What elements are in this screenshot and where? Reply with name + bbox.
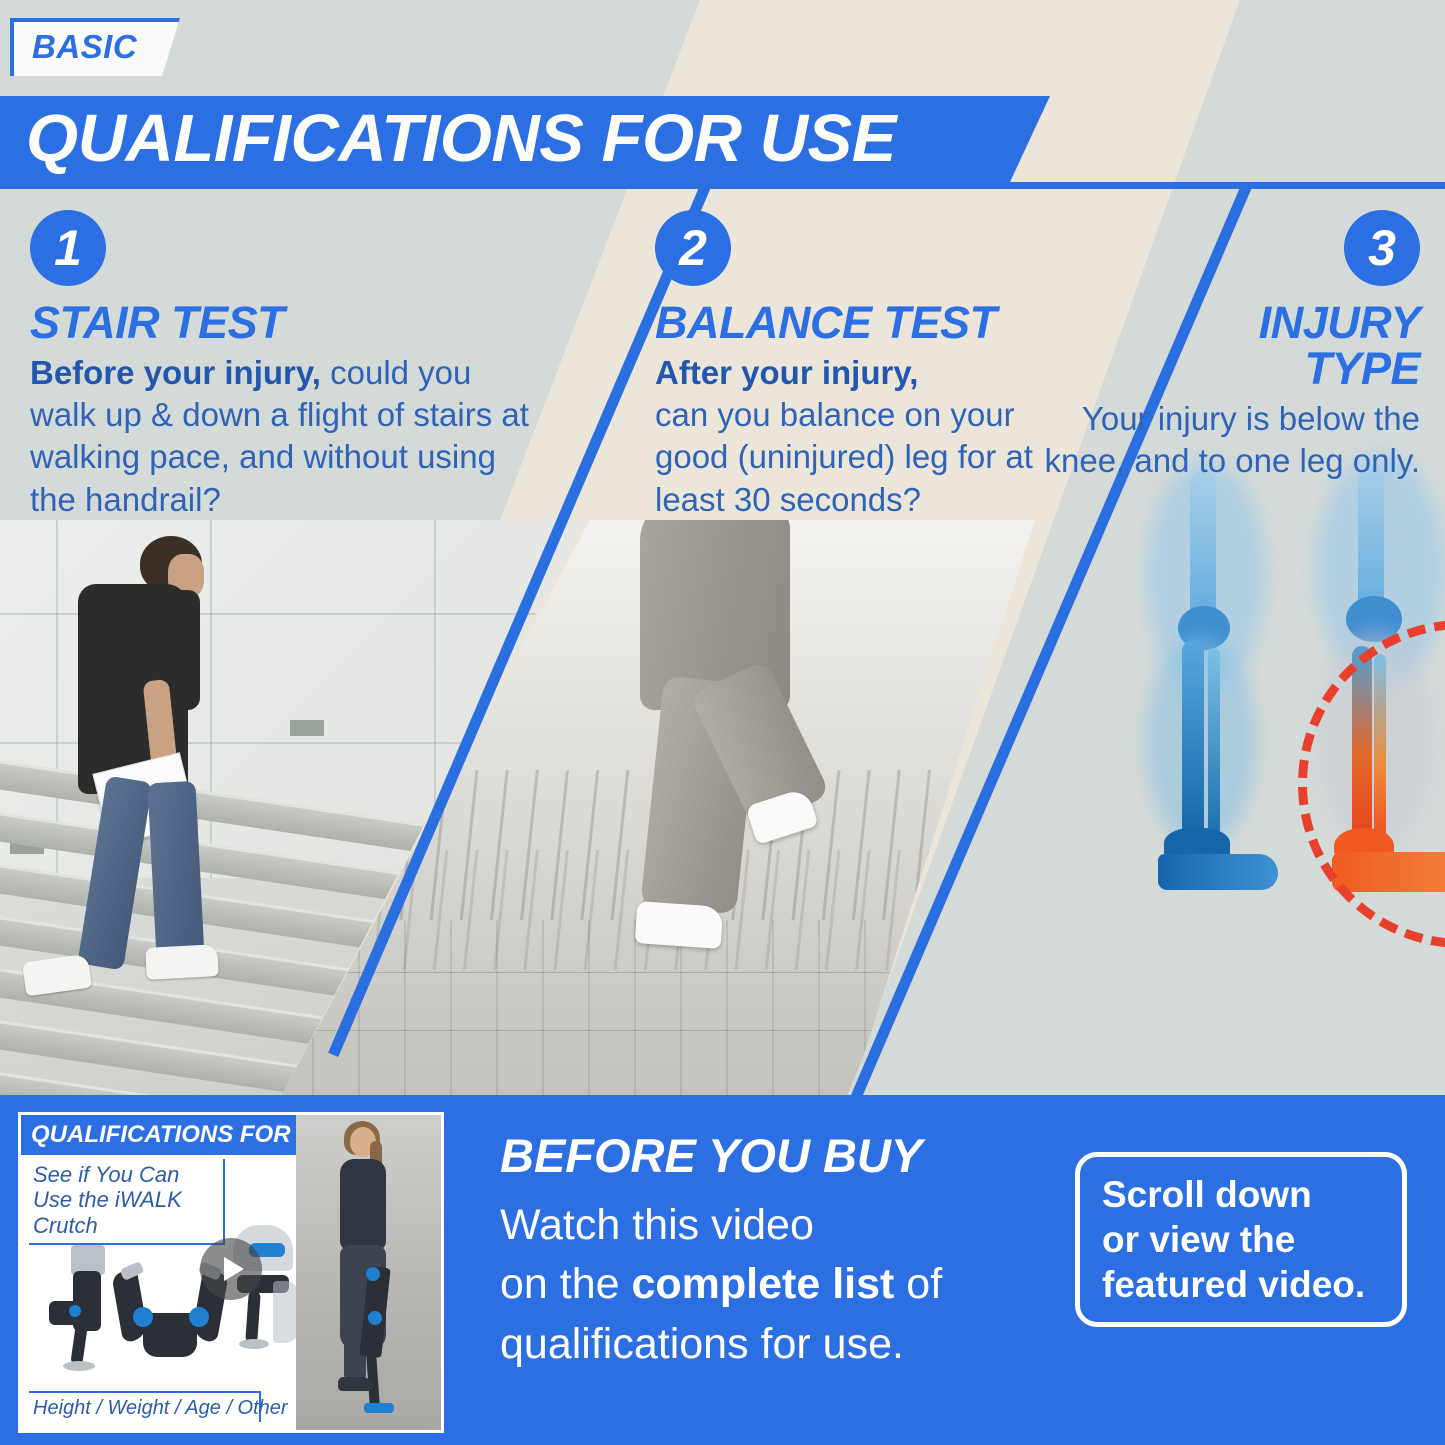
step-number-3: 3	[1344, 210, 1420, 286]
infographic-canvas: QUALIFICATIONS FOR USE BASIC 1 STAIR TES…	[0, 0, 1445, 1445]
video-thumbnail-photo	[296, 1115, 441, 1430]
scroll-note-line-2: or view the	[1102, 1219, 1295, 1260]
balance-test-body: After your injury, can you balance on yo…	[655, 352, 1075, 521]
page-title: QUALIFICATIONS FOR USE	[26, 98, 1036, 180]
column-balance-test: 2 BALANCE TEST After your injury, can yo…	[655, 210, 1075, 521]
before-you-buy-body: Watch this video on the complete list of…	[500, 1196, 1060, 1374]
video-thumbnail-header: QUALIFICATIONS FOR USE	[21, 1115, 296, 1155]
play-icon[interactable]	[200, 1238, 262, 1300]
step-number-2: 2	[655, 210, 731, 286]
scroll-note-line-1: Scroll down	[1102, 1174, 1312, 1215]
scroll-note-line-3: featured video.	[1102, 1264, 1365, 1305]
injury-highlight-circle	[1298, 620, 1445, 948]
column-injury-type: 3 INJURY TYPE Your injury is below the k…	[1030, 210, 1420, 482]
step-number-1: 1	[30, 210, 106, 286]
before-you-buy-title: BEFORE YOU BUY	[500, 1128, 922, 1183]
cta-line-1: Watch this video	[500, 1201, 814, 1249]
play-triangle	[224, 1257, 244, 1281]
injury-type-title: INJURY TYPE	[1030, 300, 1420, 392]
stair-test-lead: Before your injury,	[30, 354, 321, 391]
column-stair-test: 1 STAIR TEST Before your injury, could y…	[30, 210, 530, 521]
cta-line-2-bold: complete list	[632, 1260, 895, 1308]
cta-line-2-pre: on the	[500, 1260, 632, 1308]
video-thumbnail-subtitle: See if You Can Use the iWALK Crutch	[29, 1159, 225, 1245]
injury-type-title-line2: TYPE	[1304, 343, 1420, 394]
stair-test-title: STAIR TEST	[30, 300, 530, 346]
cta-line-2-post: of	[894, 1260, 942, 1308]
balance-test-rest: can you balance on your good (uninjured)…	[655, 396, 1033, 517]
basic-badge-label: BASIC	[32, 26, 137, 68]
video-thumbnail-footer: Height / Weight / Age / Other	[29, 1391, 261, 1422]
balance-test-lead: After your injury,	[655, 354, 918, 391]
header-rule	[0, 182, 1445, 189]
scroll-down-note-text: Scroll down or view the featured video.	[1080, 1172, 1365, 1307]
injury-type-body: Your injury is below the knee, and to on…	[1030, 398, 1420, 482]
stair-test-body: Before your injury, could you walk up & …	[30, 352, 530, 521]
product-image-1	[47, 1245, 117, 1375]
scroll-down-note: Scroll down or view the featured video.	[1075, 1152, 1407, 1327]
balance-test-title: BALANCE TEST	[655, 300, 1075, 346]
cta-line-3: qualifications for use.	[500, 1320, 904, 1368]
injury-type-title-line1: INJURY	[1259, 297, 1420, 348]
